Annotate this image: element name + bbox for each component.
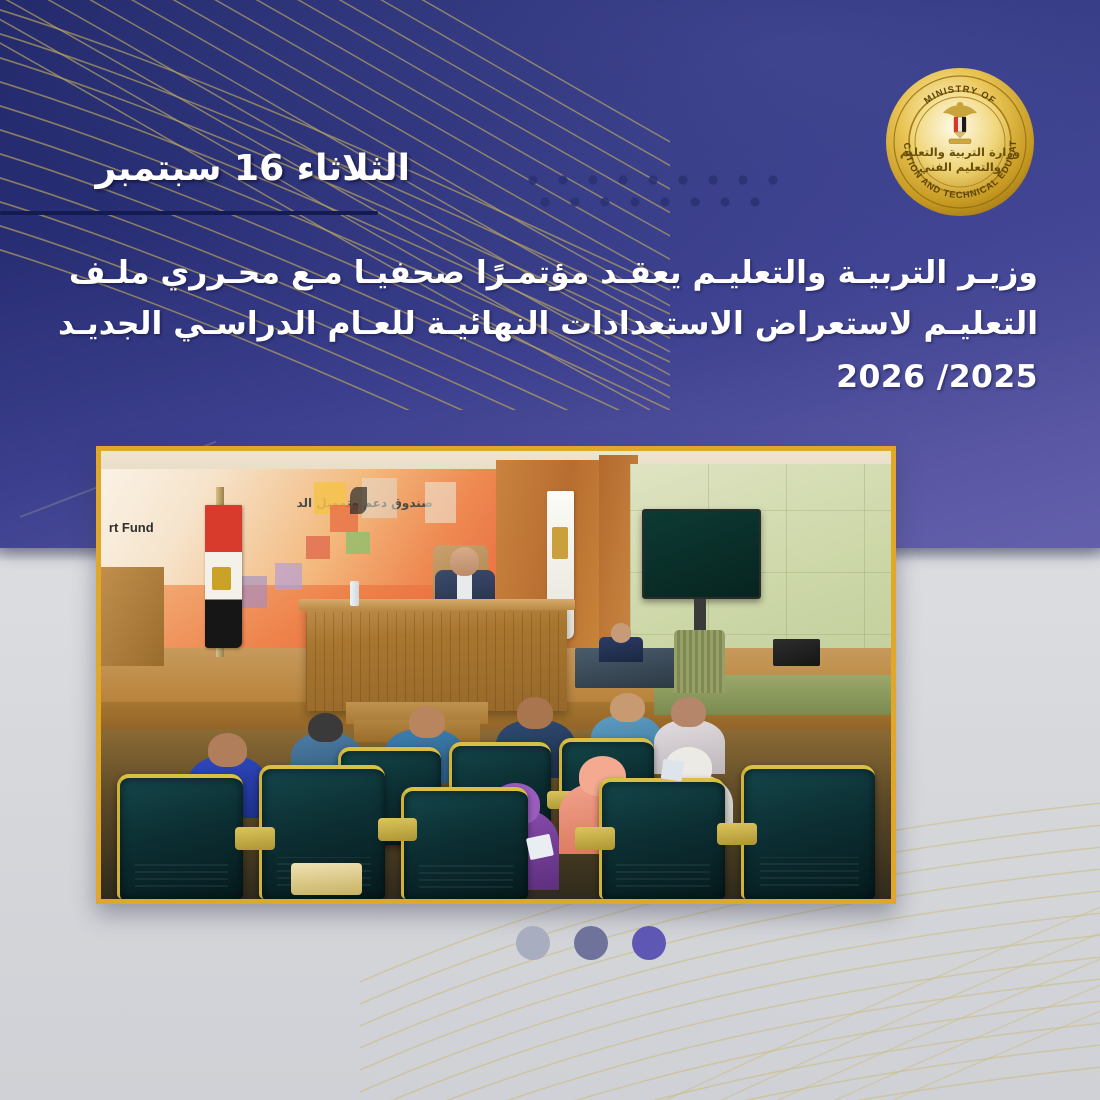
ministry-seal-icon: MINISTRY OF EDUCATION AND TECHNICAL EDUC…	[884, 66, 1036, 218]
pager-dot-2	[574, 926, 608, 960]
pager-dot-3	[632, 926, 666, 960]
headline-line-2: التعليـم لاستعراض الاستعدادات النهائيـة …	[58, 306, 1038, 342]
headline-line-1: وزيـر التربيـة والتعليـم يعقـد مؤتمـرًا …	[69, 255, 1038, 291]
svg-text:وزارة التربية والتعليم: وزارة التربية والتعليم	[900, 145, 1020, 160]
pager-dots[interactable]	[516, 926, 666, 960]
svg-text:والتعليم الفني: والتعليم الفني	[919, 160, 1001, 175]
page-title: وزيـر التربيـة والتعليـم يعقـد مؤتمـرًا …	[48, 248, 1038, 403]
poster-canvas: الثلاثاء 16 سبتمبر وزيـر التربيـة والتعل…	[0, 0, 1100, 1100]
date-block: الثلاثاء 16 سبتمبر	[95, 148, 410, 189]
photo-scene: صندوق دعم وتمويل الد rt Fund	[101, 451, 891, 899]
headline-academic-year: 2026 /2025	[48, 352, 1038, 403]
backdrop-english-text: rt Fund	[109, 520, 154, 535]
date-label: الثلاثاء 16 سبتمبر	[95, 148, 410, 189]
press-conference-photo: صندوق دعم وتمويل الد rt Fund	[96, 446, 896, 904]
pager-dot-1	[516, 926, 550, 960]
date-underline	[0, 211, 378, 215]
dot-grid-decor	[523, 172, 823, 218]
